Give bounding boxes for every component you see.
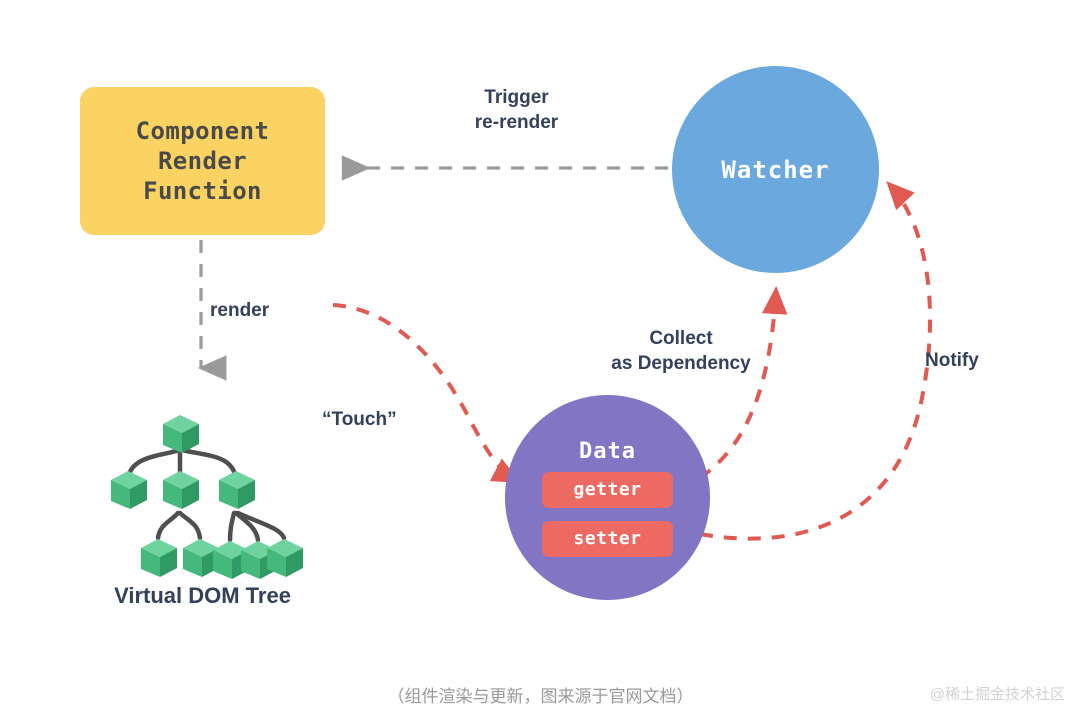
data-getter-label: getter — [573, 479, 641, 500]
vdom-cube-root — [163, 415, 199, 453]
vdom-cube-l2-right — [219, 471, 255, 509]
virtual-dom-tree-label: Virtual DOM Tree — [60, 583, 345, 609]
vdom-tree-links — [128, 450, 284, 540]
diagram-canvas: Component Render Function Watcher Data g… — [0, 0, 1081, 724]
watcher-node-label: Watcher — [721, 156, 829, 184]
watermark: @稀土掘金技术社区 — [930, 683, 1065, 704]
vdom-tree-cubes — [111, 415, 303, 579]
data-node[interactable]: Data getter setter — [505, 395, 710, 600]
watcher-node[interactable]: Watcher — [672, 66, 879, 273]
vdom-cube-l2-middle — [163, 471, 199, 509]
edge-label-collect-as-dependency: Collect as Dependency — [586, 326, 776, 376]
component-node-line-1: Component — [136, 116, 270, 146]
data-setter-label: setter — [573, 528, 641, 549]
figure-caption: （组件渲染与更新，图来源于官网文档） — [0, 682, 1081, 707]
component-render-function-node[interactable]: Component Render Function — [80, 87, 325, 235]
edge-label-touch: “Touch” — [322, 407, 442, 432]
component-node-line-2: Render — [158, 146, 247, 176]
edge-label-trigger-re-render: Trigger re-render — [424, 85, 609, 135]
edge-touch — [333, 305, 517, 481]
edge-label-notify: Notify — [925, 348, 1035, 373]
vdom-cube-l3-a — [141, 539, 177, 577]
edge-label-render: render — [210, 298, 330, 323]
data-getter-box[interactable]: getter — [542, 472, 673, 508]
component-node-line-3: Function — [143, 176, 262, 206]
data-node-label: Data — [579, 439, 636, 464]
data-setter-box[interactable]: setter — [542, 521, 673, 557]
vdom-cube-l2-left — [111, 471, 147, 509]
edge-collect-as-dependency — [700, 290, 776, 478]
